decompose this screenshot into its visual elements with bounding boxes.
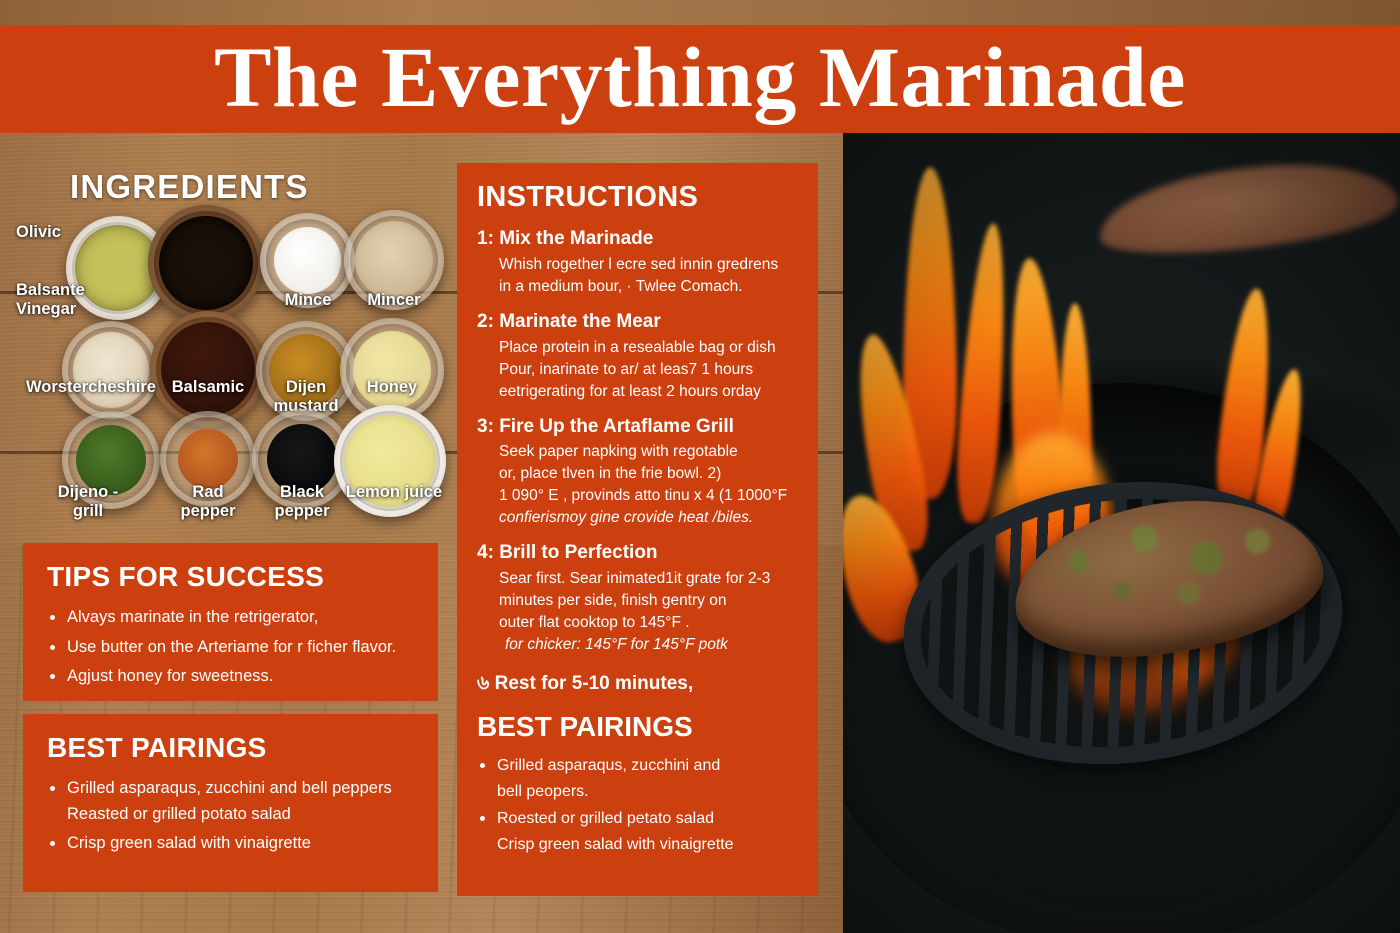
bowl-rim xyxy=(62,321,160,419)
bullet-dot xyxy=(50,645,55,650)
left-pairings-heading: BEST PAIRINGS xyxy=(47,732,416,764)
step-line: minutes per side, finish gentry on xyxy=(499,590,798,612)
instructions-panel: INSTRUCTIONS 1: Mix the Marinade Whish r… xyxy=(457,163,818,896)
pairing-main: Grilled asparaqus, zucchini and bell pep… xyxy=(67,779,392,797)
rest-text: Rest for 5-10 minutes, xyxy=(495,673,694,694)
step-heading: 3: Fire Up the Artaflame Grill xyxy=(477,416,798,439)
pairing-sub: Reasted or grilled potato salad xyxy=(67,802,416,828)
rest-marker-icon: ৬ xyxy=(477,673,489,694)
bullet-dot xyxy=(480,763,485,768)
left-best-pairings-panel: BEST PAIRINGS Grilled asparaqus, zucchin… xyxy=(23,714,438,892)
step-heading: 2: Marinate the Mear xyxy=(477,311,798,334)
instruction-step: 3: Fire Up the Artaflame Grill Seek pape… xyxy=(477,416,798,530)
step-heading: 4: Brill to Perfection xyxy=(477,542,798,565)
step-number: 4: xyxy=(477,542,494,563)
pairing-main: Roested or grilled petato salad xyxy=(497,810,714,827)
list-item: Grilled asparaqus, zucchini and bell pep… xyxy=(47,776,416,827)
list-item: Alvays marinate in the retrigerator, xyxy=(47,605,416,631)
ingredient-label: Balsamic xyxy=(152,378,264,397)
list-item: Use butter on the Arteriame for r ficher… xyxy=(47,635,416,661)
step-title: Mix the Marinade xyxy=(499,228,653,249)
tip-text: Alvays marinate in the retrigerator, xyxy=(67,608,318,626)
step-line: Seek paper napking with regotable xyxy=(499,441,798,463)
step-line: or, place tlven in the frie bowl. 2) xyxy=(499,463,798,485)
list-item: Roested or grilled petato salad Crisp gr… xyxy=(477,806,798,857)
step-number: 1: xyxy=(477,228,494,249)
tip-text: Agjust honey for sweetness. xyxy=(67,667,273,685)
list-item: Grilled asparaqus, zucchini and bell peo… xyxy=(477,753,798,804)
pairing-sub: Crisp green salad with vinaigrette xyxy=(497,832,798,858)
top-wood-strip xyxy=(0,0,1400,25)
page-title: The Everything Marinade xyxy=(214,34,1186,120)
step-body: Seek paper napking with regotable or, pl… xyxy=(477,441,798,529)
ingredient-label: Honey xyxy=(340,378,444,397)
step-line: Sear first. Sear inimated1it grate for 2… xyxy=(499,568,798,590)
step-line: confierismoy gine crovide heat /biles. xyxy=(499,507,798,529)
step-line: Pour, inarinate to ar/ at leas7 1 hours xyxy=(499,359,798,381)
ingredient-bowl xyxy=(62,321,160,419)
ingredient-label: Balsante Vinegar xyxy=(16,281,126,319)
bullet-dot xyxy=(480,816,485,821)
step-heading: 1: Mix the Marinade xyxy=(477,228,798,251)
step-body: Sear first. Sear inimated1it grate for 2… xyxy=(477,568,798,656)
bullet-dot xyxy=(50,786,55,791)
panel-pairings-list: Grilled asparaqus, zucchini and bell peo… xyxy=(477,753,798,857)
bullet-dot xyxy=(50,841,55,846)
tip-text: Use butter on the Arteriame for r ficher… xyxy=(67,638,396,656)
tips-heading: TIPS FOR SUCCESS xyxy=(47,561,416,593)
step-body: Whish rogether l ecre sed innin gredrens… xyxy=(477,254,798,298)
step-title: Fire Up the Artaflame Grill xyxy=(499,416,734,437)
step-line: in a medium bour, · Twlee Comach. xyxy=(499,276,798,298)
step-number: 3: xyxy=(477,416,494,437)
instructions-heading: INSTRUCTIONS xyxy=(477,181,798,214)
tips-for-success-panel: TIPS FOR SUCCESS Alvays marinate in the … xyxy=(23,543,438,701)
pairing-main: Grilled asparaqus, zucchini and xyxy=(497,757,720,774)
title-banner: The Everything Marinade xyxy=(0,25,1400,133)
ingredient-label: Lemon juice xyxy=(330,483,458,502)
bowl-rim xyxy=(148,205,264,321)
rest-step: ৬ Rest for 5-10 minutes, xyxy=(477,669,798,701)
bullet-dot xyxy=(50,674,55,679)
ingredient-bowl xyxy=(148,205,264,321)
ingredient-label: Worstercheshire xyxy=(16,378,166,397)
ingredient-label: Olivic xyxy=(16,223,106,242)
step-line: 1 090° E , provinds atto tinu x 4 (1 100… xyxy=(499,485,798,507)
instruction-step: 1: Mix the Marinade Whish rogether l ecr… xyxy=(477,228,798,298)
list-item: Agjust honey for sweetness. xyxy=(47,664,416,690)
ingredient-label: Dijeno - grill xyxy=(28,483,148,521)
panel-pairings-heading: BEST PAIRINGS xyxy=(477,711,798,743)
list-item: Crisp green salad with vinaigrette xyxy=(47,831,416,857)
ingredients-heading: INGREDIENTS xyxy=(70,168,309,206)
background-steak xyxy=(1095,153,1400,264)
instruction-step: 4: Brill to Perfection Sear first. Sear … xyxy=(477,542,798,656)
ingredient-bowl xyxy=(150,311,266,427)
step-title: Marinate the Mear xyxy=(499,311,661,332)
step-line: eetrigerating for at least 2 hours orday xyxy=(499,381,798,403)
recipe-poster: The Everything Marinade INGREDIENTS Oliv… xyxy=(0,0,1400,933)
step-body: Place protein in a resealable bag or dis… xyxy=(477,337,798,403)
step-line: Place protein in a resealable bag or dis… xyxy=(499,337,798,359)
bullet-dot xyxy=(50,615,55,620)
pairing-main: Crisp green salad with vinaigrette xyxy=(67,834,311,852)
instruction-step: 2: Marinate the Mear Place protein in a … xyxy=(477,311,798,403)
grill-photo xyxy=(843,133,1400,933)
step-line: Whish rogether l ecre sed innin gredrens xyxy=(499,254,798,276)
ingredient-label: Mincer xyxy=(342,291,446,310)
step-number: 2: xyxy=(477,311,494,332)
pairing-sub: bell peopers. xyxy=(497,779,798,805)
tips-list: Alvays marinate in the retrigerator, Use… xyxy=(47,605,416,690)
step-line: for chicker: 145°F for 145°F potk xyxy=(499,634,798,656)
step-title: Brill to Perfection xyxy=(499,542,657,563)
left-pairings-list: Grilled asparaqus, zucchini and bell pep… xyxy=(47,776,416,857)
step-line: outer flat cooktop to 145°F . xyxy=(499,612,798,634)
bowl-rim xyxy=(150,311,266,427)
